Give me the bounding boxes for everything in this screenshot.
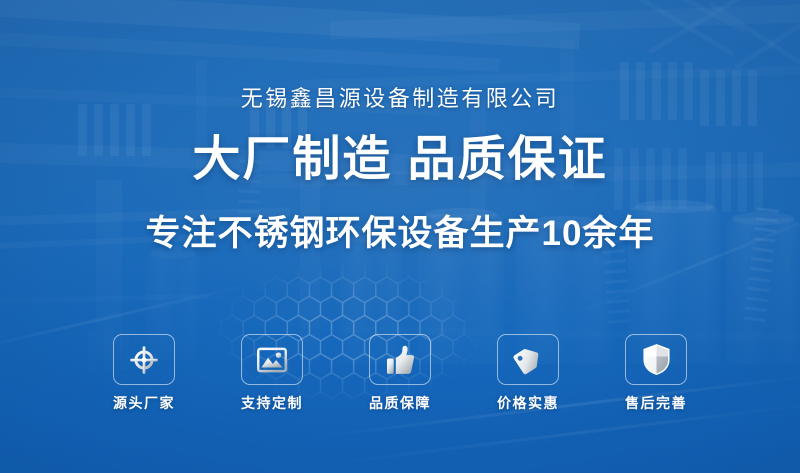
feature-label: 源头厂家	[113, 396, 175, 410]
shield-icon	[643, 344, 670, 375]
feature-label: 支持定制	[241, 396, 303, 410]
promo-banner: 无锡鑫昌源设备制造有限公司 大厂制造 品质保证 专注不锈钢环保设备生产10余年	[0, 0, 800, 473]
company-name: 无锡鑫昌源设备制造有限公司	[241, 88, 560, 110]
price-tag-icon	[513, 345, 543, 375]
thumbs-up-icon	[386, 345, 415, 375]
icon-box[interactable]	[241, 334, 303, 385]
headline: 大厂制造 品质保证	[192, 136, 607, 184]
image-picture-icon	[257, 347, 287, 373]
feature-label: 品质保障	[369, 396, 431, 410]
feature-item-after-sales[interactable]: 售后完善	[625, 334, 687, 410]
feature-label: 售后完善	[625, 396, 687, 410]
feature-item-custom-support[interactable]: 支持定制	[241, 334, 303, 410]
subheadline: 专注不锈钢环保设备生产10余年	[146, 216, 655, 251]
feature-item-source-factory[interactable]: 源头厂家	[113, 334, 175, 410]
icon-box[interactable]	[625, 334, 687, 385]
icon-box[interactable]	[113, 334, 175, 385]
feature-item-affordable-price[interactable]: 价格实惠	[497, 334, 559, 410]
feature-list: 源头厂家	[0, 334, 800, 410]
icon-box[interactable]	[497, 334, 559, 385]
crosshair-target-icon	[129, 345, 159, 375]
icon-box[interactable]	[369, 334, 431, 385]
feature-label: 价格实惠	[497, 396, 559, 410]
feature-item-quality-guarantee[interactable]: 品质保障	[369, 334, 431, 410]
